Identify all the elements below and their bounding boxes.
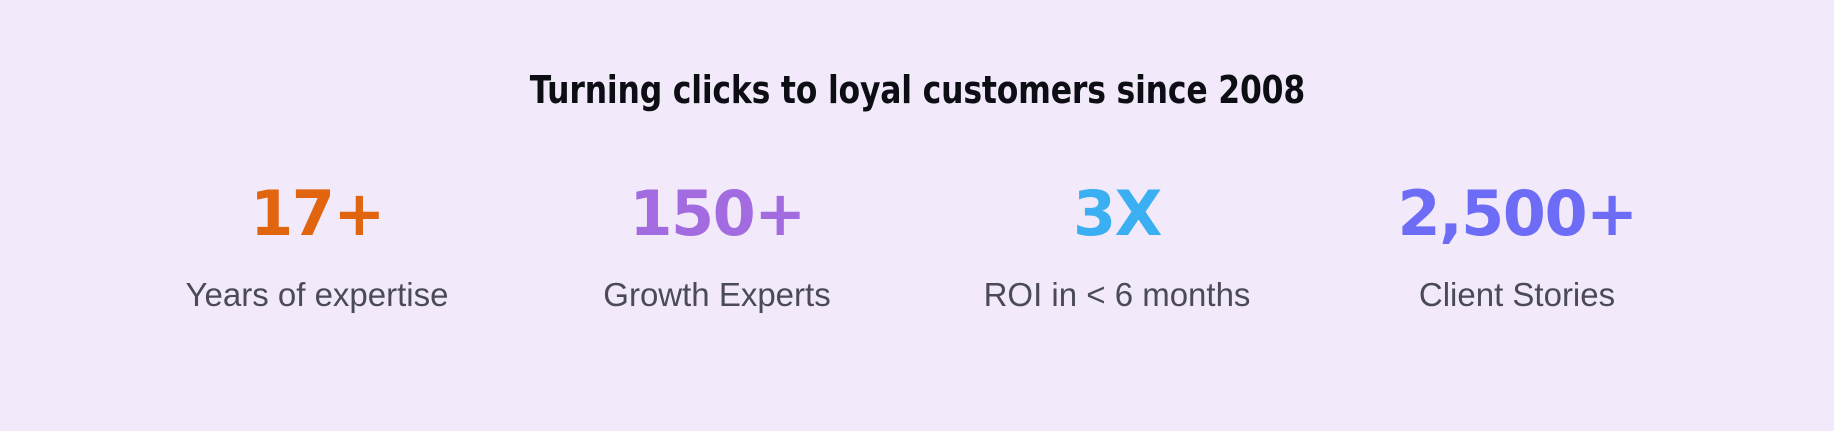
stats-section: Turning clicks to loyal customers since … <box>0 0 1834 431</box>
stat-value: 150+ <box>629 183 804 245</box>
stat-label: Growth Experts <box>603 275 830 315</box>
stat-label: Years of expertise <box>186 275 449 315</box>
stat-value: 2,500+ <box>1397 183 1636 245</box>
stat-item-client-stories: 2,500+ Client Stories <box>1317 183 1717 315</box>
stat-label: Client Stories <box>1419 275 1615 315</box>
stat-item-roi: 3X ROI in < 6 months <box>917 183 1317 315</box>
stat-value: 3X <box>1073 183 1161 245</box>
stat-label: ROI in < 6 months <box>984 275 1251 315</box>
section-heading: Turning clicks to loyal customers since … <box>529 70 1304 112</box>
stat-value: 17+ <box>250 183 384 245</box>
stat-item-growth-experts: 150+ Growth Experts <box>517 183 917 315</box>
stats-grid: 17+ Years of expertise 150+ Growth Exper… <box>117 183 1717 315</box>
stat-item-years-of-expertise: 17+ Years of expertise <box>117 183 517 315</box>
